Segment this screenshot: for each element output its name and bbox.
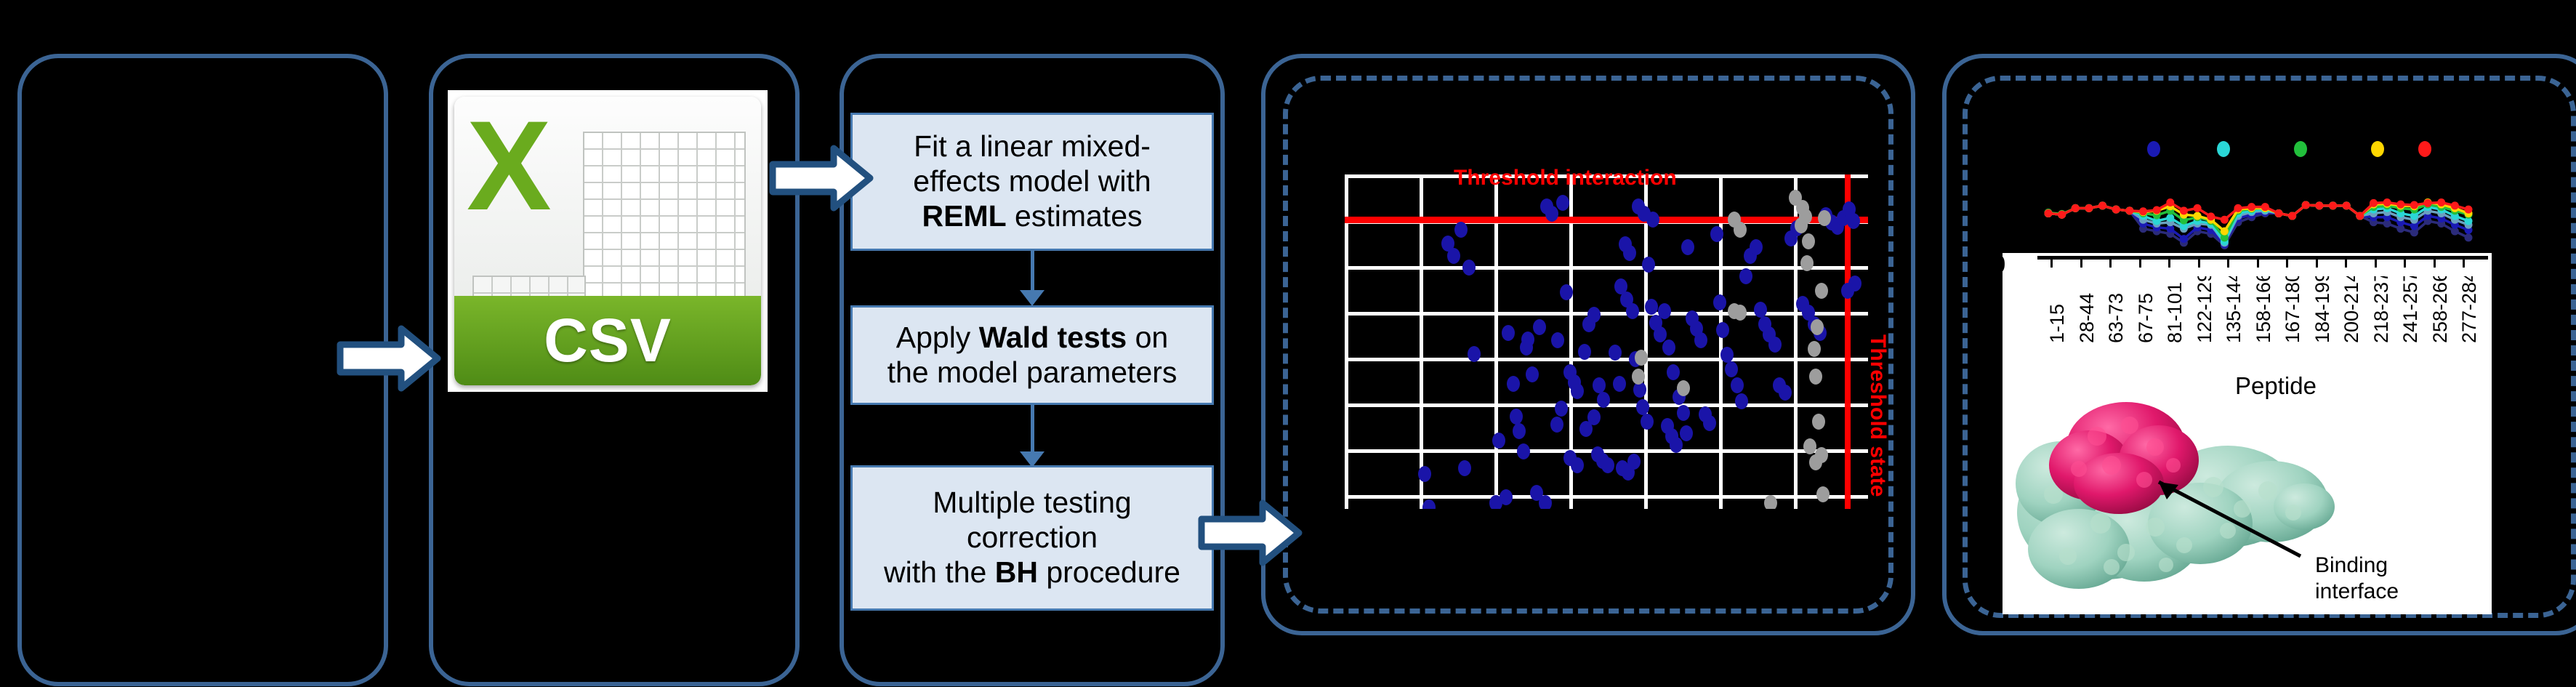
- series-point: [2247, 203, 2255, 211]
- step-reml-box[interactable]: Fit a linear mixed- effects model with R…: [850, 113, 1214, 251]
- csv-icon-body: X CSV: [454, 97, 761, 385]
- step-reml-text: Fit a linear mixed- effects model with R…: [913, 129, 1151, 234]
- connector-reml-to-wald: [1031, 251, 1034, 293]
- series-point: [2370, 199, 2378, 207]
- step-wald-line1-prefix: Apply: [896, 321, 979, 354]
- series-point: [2153, 206, 2161, 214]
- series-point: [2274, 209, 2282, 217]
- series-point: [2465, 206, 2473, 214]
- series-point: [2045, 209, 2053, 217]
- binding-interface-label: Binding interface: [2315, 553, 2399, 605]
- step-wald-bold: Wald tests: [979, 321, 1127, 354]
- step-bh-text: Multiple testing correction with the BH …: [884, 486, 1180, 590]
- step-bh-line3-suffix: procedure: [1038, 555, 1180, 589]
- peptide-tick-label: 135-144: [2223, 276, 2245, 343]
- series-point: [2396, 201, 2404, 209]
- step-bh-bold: BH: [995, 555, 1038, 589]
- arrow-csv-to-analysis: [767, 138, 876, 218]
- step-wald-line2: the model parameters: [887, 355, 1178, 389]
- csv-icon-band: CSV: [454, 296, 761, 385]
- series-point: [2356, 212, 2364, 220]
- peptide-tick-label: 218-237: [2370, 276, 2393, 343]
- series-point: [2410, 201, 2418, 209]
- series-point: [2166, 214, 2174, 222]
- peptide-line-chart: [2006, 138, 2515, 254]
- csv-file-icon: X CSV: [448, 90, 768, 392]
- series-point: [2207, 212, 2215, 220]
- arrow-analysis-to-results: [1192, 493, 1308, 573]
- series-point: [2166, 198, 2174, 206]
- series-point: [2437, 198, 2445, 206]
- connector-reml-to-wald-head: [1020, 290, 1045, 306]
- peptide-tick-label: 28-44: [2076, 293, 2098, 343]
- series-point: [2058, 211, 2066, 219]
- step-reml-line3-suffix: estimates: [1007, 199, 1143, 233]
- step-wald-line1-suffix: on: [1127, 321, 1168, 354]
- series-point: [2180, 206, 2188, 214]
- series-point: [2194, 212, 2202, 220]
- series-point: [2112, 206, 2120, 214]
- peptide-tick-labels-overlay: 1-1528-4463-7367-7581-101122-129135-1441…: [2003, 276, 2492, 362]
- series-point: [2315, 201, 2323, 209]
- series-point: [2383, 198, 2391, 206]
- protein-structure-card: 1-1528-4463-7367-7581-101122-129135-1441…: [2003, 276, 2492, 614]
- threshold-interaction-label: Threshold interaction: [1454, 166, 1677, 190]
- peptide-tick-label: 184-199: [2311, 276, 2334, 343]
- peptide-tick-label: 258-266: [2429, 276, 2452, 343]
- step-bh-line1: Multiple testing: [933, 486, 1131, 519]
- arrow-into-input: [334, 318, 443, 398]
- scatter-points: [1345, 174, 1868, 509]
- peptide-tick-label: 67-75: [2135, 293, 2157, 343]
- legend-dot-4: [2371, 141, 2384, 157]
- connector-wald-to-bh: [1031, 405, 1034, 454]
- step-reml-bold: REML: [922, 199, 1007, 233]
- series-point: [2261, 203, 2269, 211]
- series-point: [2288, 212, 2296, 220]
- step-reml-line2: effects model with: [913, 164, 1151, 198]
- peptide-tick-label: 81-101: [2164, 282, 2186, 343]
- series-point: [2465, 233, 2473, 241]
- series-point: [2139, 207, 2147, 215]
- protein-surface: [2010, 374, 2492, 614]
- threshold-state-label: Threshold state: [1865, 334, 1890, 497]
- legend-dots: [2147, 141, 2431, 157]
- peptide-tick-label: 158-166: [2253, 276, 2275, 343]
- panel-input: [17, 54, 388, 686]
- peptide-tick-label: 167-180: [2282, 276, 2304, 343]
- scatter-plot: [1345, 174, 1868, 509]
- step-wald-box[interactable]: Apply Wald tests on the model parameters: [850, 305, 1214, 405]
- series-point: [2098, 201, 2106, 209]
- csv-icon-band-label: CSV: [544, 305, 672, 376]
- step-wald-text: Apply Wald tests on the model parameters: [887, 321, 1178, 390]
- series-point: [2085, 204, 2093, 212]
- series-point: [2180, 235, 2188, 243]
- y-axis-zero-label: 0.0: [1971, 251, 2005, 279]
- step-reml-line1: Fit a linear mixed-: [914, 129, 1151, 163]
- series-point: [2125, 206, 2133, 214]
- peptide-tick-label: 200-214: [2340, 276, 2363, 343]
- series-point: [2221, 228, 2229, 236]
- legend-dot-3: [2294, 141, 2307, 157]
- series-point: [2221, 216, 2229, 224]
- legend-dot-5: [2418, 141, 2431, 157]
- csv-icon-x-letter: X: [467, 103, 589, 252]
- step-bh-box[interactable]: Multiple testing correction with the BH …: [850, 465, 1214, 611]
- binding-interface-line2: interface: [2315, 579, 2399, 603]
- legend-dot-2: [2217, 141, 2230, 157]
- binding-interface-line1: Binding: [2315, 553, 2388, 577]
- chart-series-group: [2045, 198, 2473, 249]
- series-point: [2234, 204, 2242, 212]
- legend-dot-1: [2147, 141, 2160, 157]
- series-point: [2343, 201, 2351, 209]
- series-point: [2302, 201, 2310, 209]
- series-point: [2329, 201, 2337, 209]
- peptide-tick-label: 241-257: [2399, 276, 2422, 343]
- series-point: [2424, 199, 2432, 207]
- peptide-tick-label: 122-129: [2194, 276, 2216, 343]
- peptide-tick-label: 277-284: [2458, 276, 2481, 343]
- step-bh-line2: correction: [967, 521, 1098, 554]
- series-point: [2194, 204, 2202, 212]
- series-point: [2072, 204, 2080, 212]
- series-point: [2451, 201, 2459, 209]
- step-bh-line3-prefix: with the: [884, 555, 995, 589]
- diagram-canvas: X CSV Fit a linear mixed- effects model …: [0, 0, 2576, 687]
- peptide-tick-label: 1-15: [2046, 304, 2069, 343]
- peptide-line-chart-svg: [2006, 138, 2515, 254]
- peptide-tick-label: 63-73: [2105, 293, 2128, 343]
